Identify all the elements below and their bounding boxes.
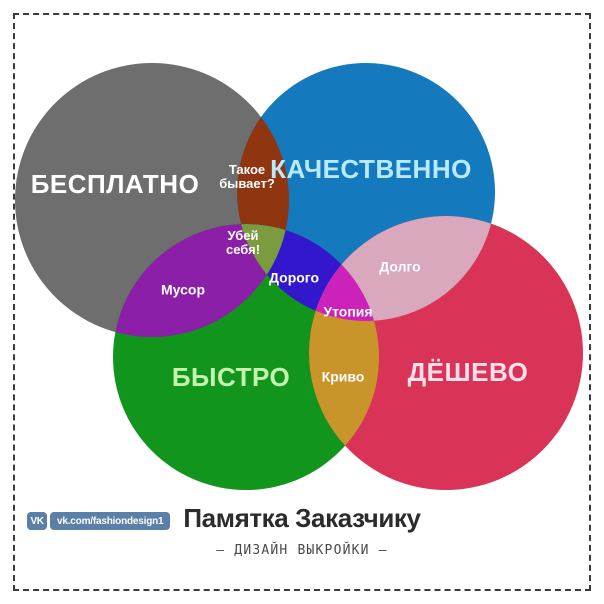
- poster-root: БЕСПЛАТНОКАЧЕСТВЕННОБЫСТРОДЁШЕВОТакое бы…: [0, 0, 604, 604]
- vk-logo-icon: VK: [27, 512, 47, 530]
- caption-subtitle: – ДИЗАЙН ВЫКРОЙКИ –: [0, 543, 604, 558]
- vk-watermark[interactable]: VK vk.com/fashiondesign1: [27, 512, 170, 530]
- vk-url-label: vk.com/fashiondesign1: [50, 512, 170, 530]
